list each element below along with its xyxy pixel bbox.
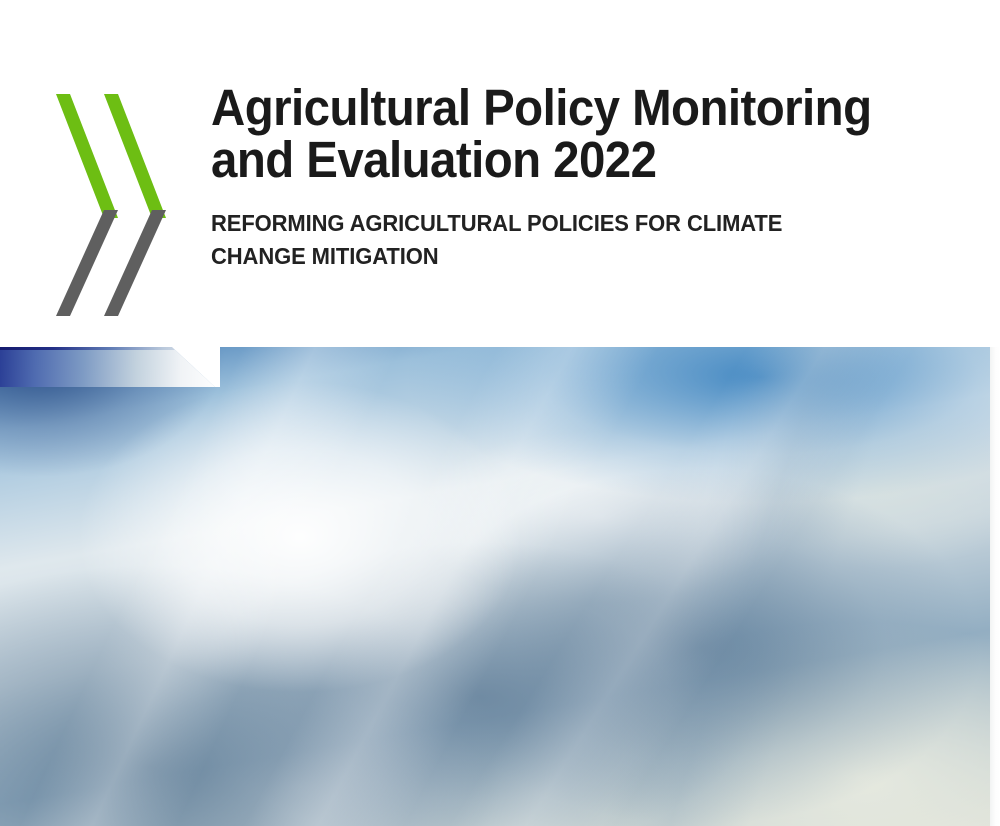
cloud-streaks-overlay <box>0 347 990 826</box>
oecd-logo <box>44 86 166 324</box>
cover-photo <box>0 347 990 826</box>
page-subtitle: REFORMING AGRICULTURAL POLICIES FOR CLIM… <box>211 207 903 273</box>
logo-chevron-2-gray <box>104 210 166 316</box>
logo-chevron-1-green <box>56 94 118 218</box>
publication-cover: Agricultural Policy Monitoring and Evalu… <box>0 0 1000 826</box>
logo-chevron-2-green <box>104 94 166 218</box>
page-title: Agricultural Policy Monitoring and Evalu… <box>211 82 899 186</box>
blue-angled-band <box>0 347 220 387</box>
title-block: Agricultural Policy Monitoring and Evalu… <box>211 82 951 273</box>
right-page-margin <box>990 347 1000 826</box>
logo-chevron-1-gray <box>56 210 118 316</box>
